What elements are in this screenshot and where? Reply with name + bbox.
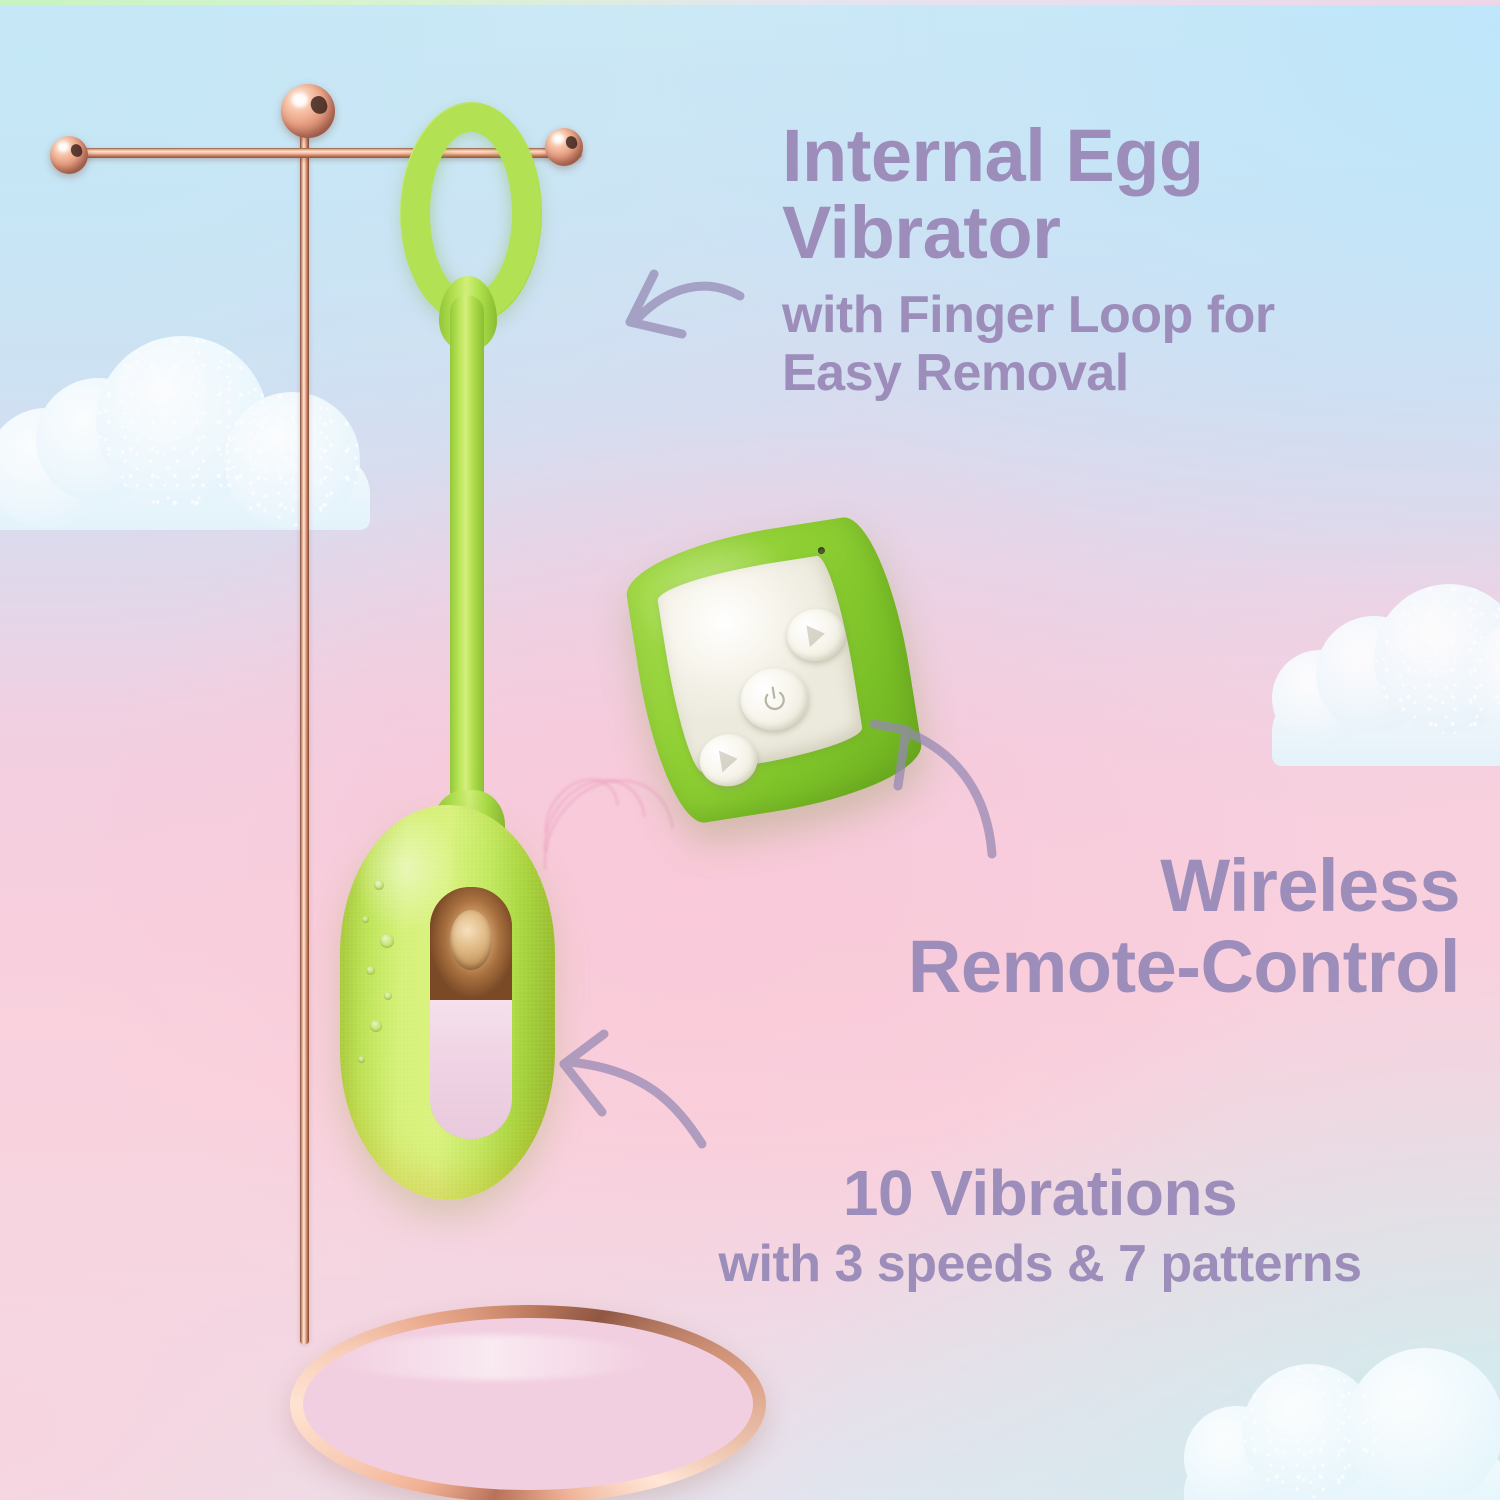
product-feature-graphic: Internal Egg Vibrator with Finger Loop f…: [0, 0, 1500, 1500]
feature-1-headline-line-1: Internal Egg: [782, 118, 1442, 195]
triangle-left-icon: [806, 623, 826, 647]
stand-base-ring: [290, 1305, 766, 1500]
power-icon: [757, 682, 791, 716]
feature-2-headline-line-2: Remote-Control: [700, 926, 1460, 1007]
retrieval-stem: [450, 295, 484, 825]
cloud-bottom-right: [1184, 1348, 1500, 1500]
arrow-to-remote: [860, 690, 1020, 860]
feature-2-text: Wireless Remote-Control: [700, 845, 1460, 1008]
arrow-to-egg: [536, 1012, 716, 1152]
feature-1-headline-line-2: Vibrator: [782, 195, 1442, 272]
remote-power-button[interactable]: [736, 663, 813, 735]
feature-1-subline-line-1: with Finger Loop for: [782, 286, 1442, 344]
cloud-right: [1272, 584, 1500, 766]
feature-3-subline-line-1: with 3 speeds & 7 patterns: [620, 1237, 1460, 1291]
status-window: [430, 887, 512, 1139]
remote-faceplate: [655, 553, 865, 775]
window-lens: [430, 1000, 512, 1139]
egg-texture-dimples: [358, 880, 404, 1075]
remote-mode-up-button[interactable]: [783, 605, 848, 665]
feature-2-headline-line-1: Wireless: [700, 845, 1460, 926]
feature-3-headline-line-1: 10 Vibrations: [620, 1160, 1460, 1227]
feature-3-text: 10 Vibrations with 3 speeds & 7 patterns: [620, 1160, 1460, 1291]
stand-left-end-ball: [50, 136, 88, 174]
arrow-to-finger-loop: [558, 248, 748, 368]
feature-1-subline-line-2: Easy Removal: [782, 344, 1442, 402]
copper-insert: [430, 887, 512, 1003]
triangle-right-icon: [718, 748, 738, 772]
feature-1-text: Internal Egg Vibrator with Finger Loop f…: [782, 118, 1442, 402]
